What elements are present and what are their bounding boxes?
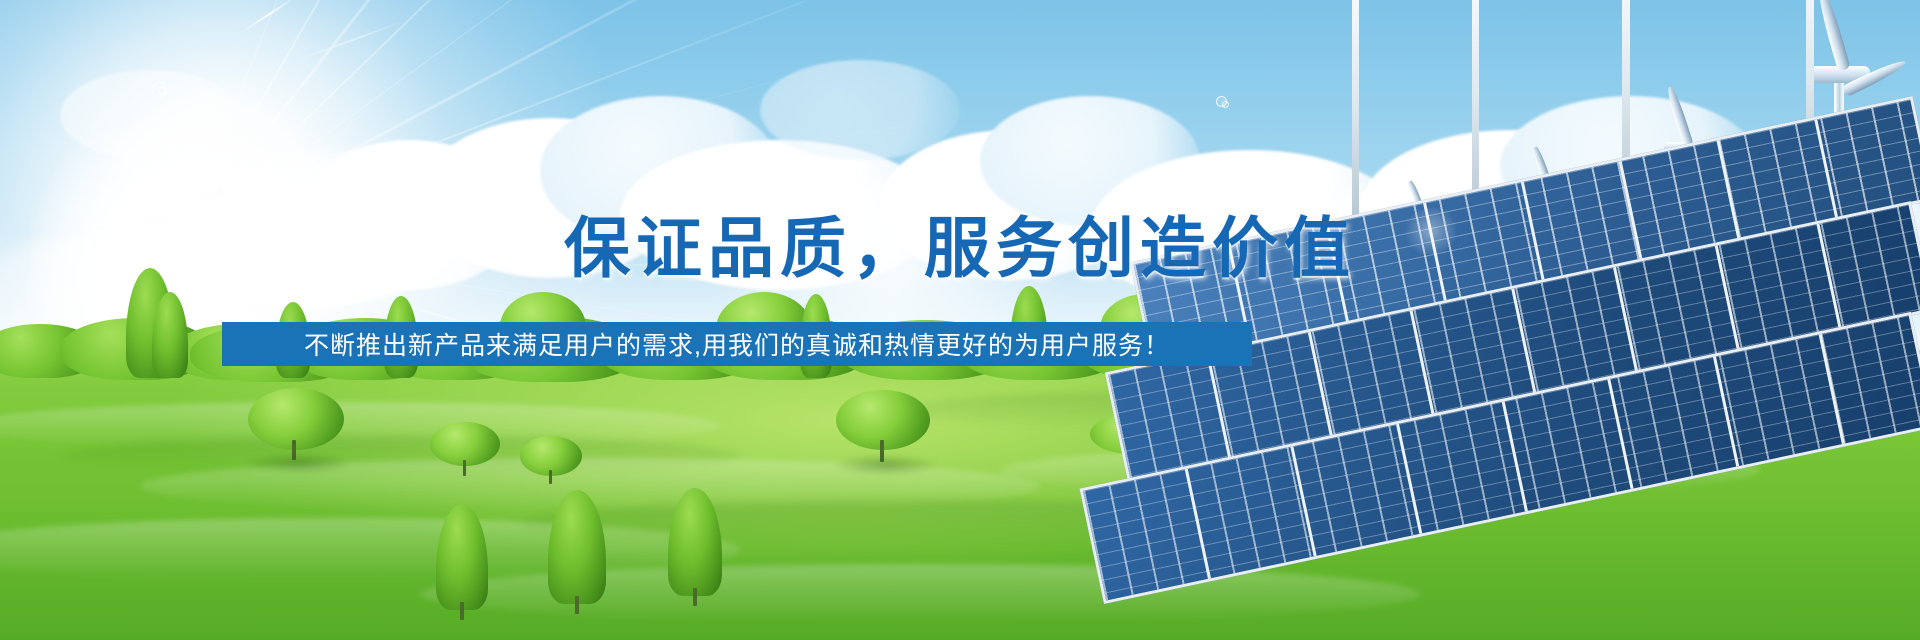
subtitle-bar: 不断推出新产品来满足用户的需求,用我们的真诚和热情更好的为用户服务！ — [222, 322, 1252, 366]
subtitle-text: 不断推出新产品来满足用户的需求,用我们的真诚和热情更好的为用户服务！ — [304, 326, 1170, 362]
foreground-conifer — [548, 482, 606, 614]
tree-shadow — [832, 454, 940, 476]
conifer-tree — [152, 292, 188, 378]
lawn-tree — [836, 390, 930, 464]
panel-support-post — [1352, 0, 1359, 246]
lawn-tree — [248, 388, 344, 462]
hero-banner: 保证品质，服务创造价值 不断推出新产品来满足用户的需求,用我们的真诚和热情更好的… — [0, 0, 1920, 640]
page-title: 保证品质，服务创造价值 — [0, 212, 1920, 284]
foreground-conifer — [668, 482, 722, 606]
lawn-shrub — [430, 422, 500, 476]
foreground-conifer — [436, 498, 488, 620]
tree-shadow — [244, 452, 354, 474]
lawn-shrub — [520, 436, 582, 484]
